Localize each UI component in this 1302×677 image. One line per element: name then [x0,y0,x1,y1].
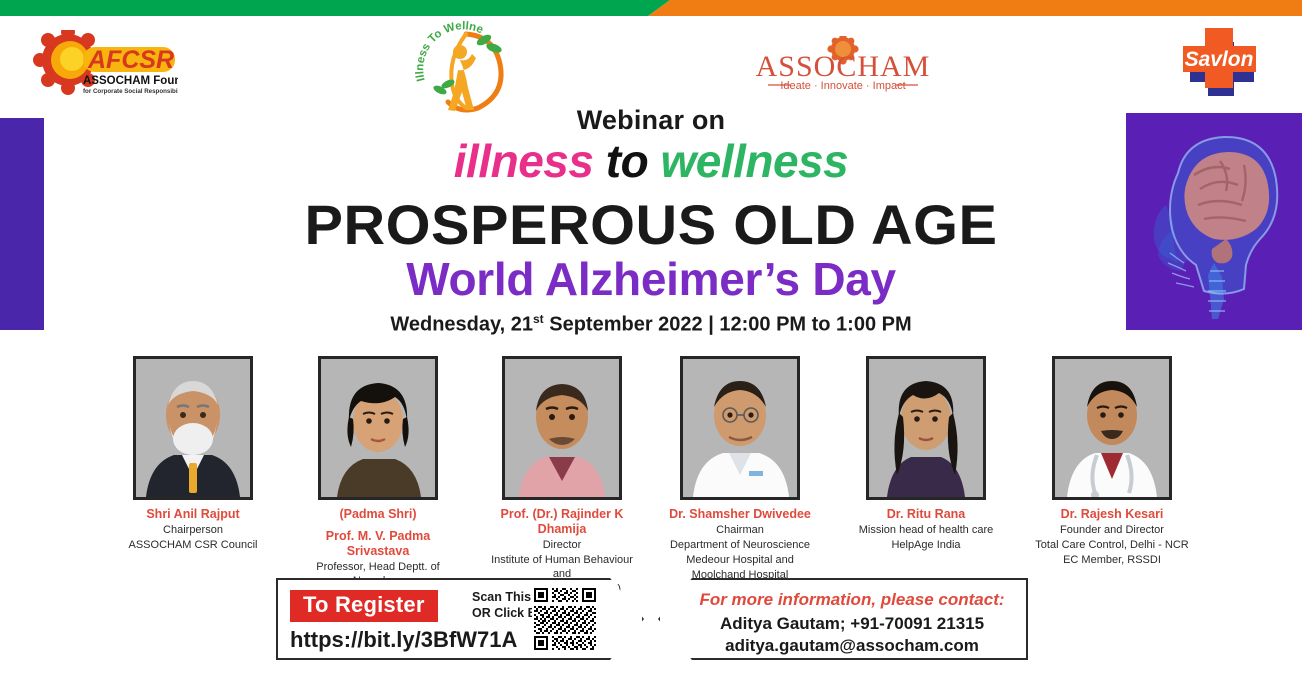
speaker-card-4: Dr. Shamsher Dwivedee Chairman Departmen… [662,356,818,582]
assocham-logo: ASSOCHAM Ideate · Innovate · Impact [752,36,934,92]
speaker-org-1: ASSOCHAM CSR Council [116,538,270,552]
savlon-logo: Savlon [1178,24,1264,98]
illness-to-wellness-logo: Illness To Wellness [408,18,518,118]
assocham-title: ASSOCHAM [756,50,931,83]
savlon-title: Savlon [1185,48,1254,71]
speaker-card-1: Shri Anil Rajput Chairperson ASSOCHAM CS… [116,356,270,552]
title-word-wellness: wellness [660,135,848,187]
event-datetime: Wednesday, 21st September 2022 | 12:00 P… [0,312,1302,337]
top-stripe [0,0,1302,16]
speaker-prefix-2: (Padma Shri) [298,507,458,522]
speaker-extra-4: Medeour Hospital and [662,553,818,567]
speaker-photo-3 [502,356,622,500]
to-register-badge: To Register [290,590,438,622]
illness-to-wellness-title: illness to wellness [0,134,1302,188]
speaker-name-3: Prof. (Dr.) Rajinder K Dhamija [484,507,640,537]
contact-email[interactable]: aditya.gautam@assocham.com [692,636,1012,656]
event-date-ordinal: st [533,312,544,326]
speaker-card-5: Dr. Ritu Rana Mission head of health car… [848,356,1004,552]
speaker-name-4: Dr. Shamsher Dwivedee [662,507,818,522]
speaker-role-1: Chairperson [116,523,270,537]
speaker-org-6: Total Care Control, Delhi - NCR [1032,538,1192,552]
afcsr-line1: ASSOCHAM Foundation [83,75,178,87]
speaker-card-6: Dr. Rajesh Kesari Founder and Director T… [1032,356,1192,567]
stripe-orange [648,0,1302,16]
speaker-role-4: Chairman [662,523,818,537]
assocham-tagline: Ideate · Innovate · Impact [780,80,905,92]
speaker-name-2: Prof. M. V. Padma Srivastava [298,529,458,559]
title-word-illness: illness [454,135,594,187]
event-date-prefix: Wednesday, 21 [390,314,533,336]
speaker-photo-2 [318,356,438,500]
register-banner[interactable]: To Register Scan This QR Code OR Click B… [276,578,644,660]
contact-heading: For more information, please contact: [692,590,1012,610]
illness-to-wellness-label: Illness To Wellness [408,18,485,83]
qr-code[interactable] [532,586,598,652]
contact-person: Aditya Gautam; +91-70091 21315 [692,614,1012,634]
title-word-to: to [606,135,648,187]
speaker-card-3: Prof. (Dr.) Rajinder K Dhamija Director … [484,356,640,596]
speaker-photo-6 [1052,356,1172,500]
speaker-photo-4 [680,356,800,500]
speaker-org-3: Institute of Human Behaviour and [484,553,640,581]
stripe-green [0,0,670,16]
speaker-photo-5 [866,356,986,500]
speaker-org-5: HelpAge India [848,538,1004,552]
speaker-role-3: Director [484,538,640,552]
speaker-role-6: Founder and Director [1032,523,1192,537]
page-subtitle: World Alzheimer’s Day [0,252,1302,306]
webinar-on-label: Webinar on [0,105,1302,136]
register-link[interactable]: https://bit.ly/3BfW71A [290,627,517,653]
speaker-name-5: Dr. Ritu Rana [848,507,1004,522]
speaker-extra-6: EC Member, RSSDI [1032,553,1192,567]
speaker-role-5: Mission head of health care [848,523,1004,537]
speaker-name-1: Shri Anil Rajput [116,507,270,522]
afcsr-logo: AFCSR ASSOCHAM Foundation for Corporate … [28,30,178,100]
speaker-name-6: Dr. Rajesh Kesari [1032,507,1192,522]
speaker-photo-1 [133,356,253,500]
contact-banner: For more information, please contact: Ad… [658,578,1028,660]
afcsr-title: AFCSR [87,46,174,74]
page-title: PROSPEROUS OLD AGE [0,192,1302,257]
afcsr-line2: for Corporate Social Responsibility [83,88,178,95]
event-date-suffix: September 2022 | 12:00 PM to 1:00 PM [544,314,912,336]
speaker-org-4: Department of Neuroscience [662,538,818,552]
speakers-row: Shri Anil Rajput Chairperson ASSOCHAM CS… [0,356,1302,556]
